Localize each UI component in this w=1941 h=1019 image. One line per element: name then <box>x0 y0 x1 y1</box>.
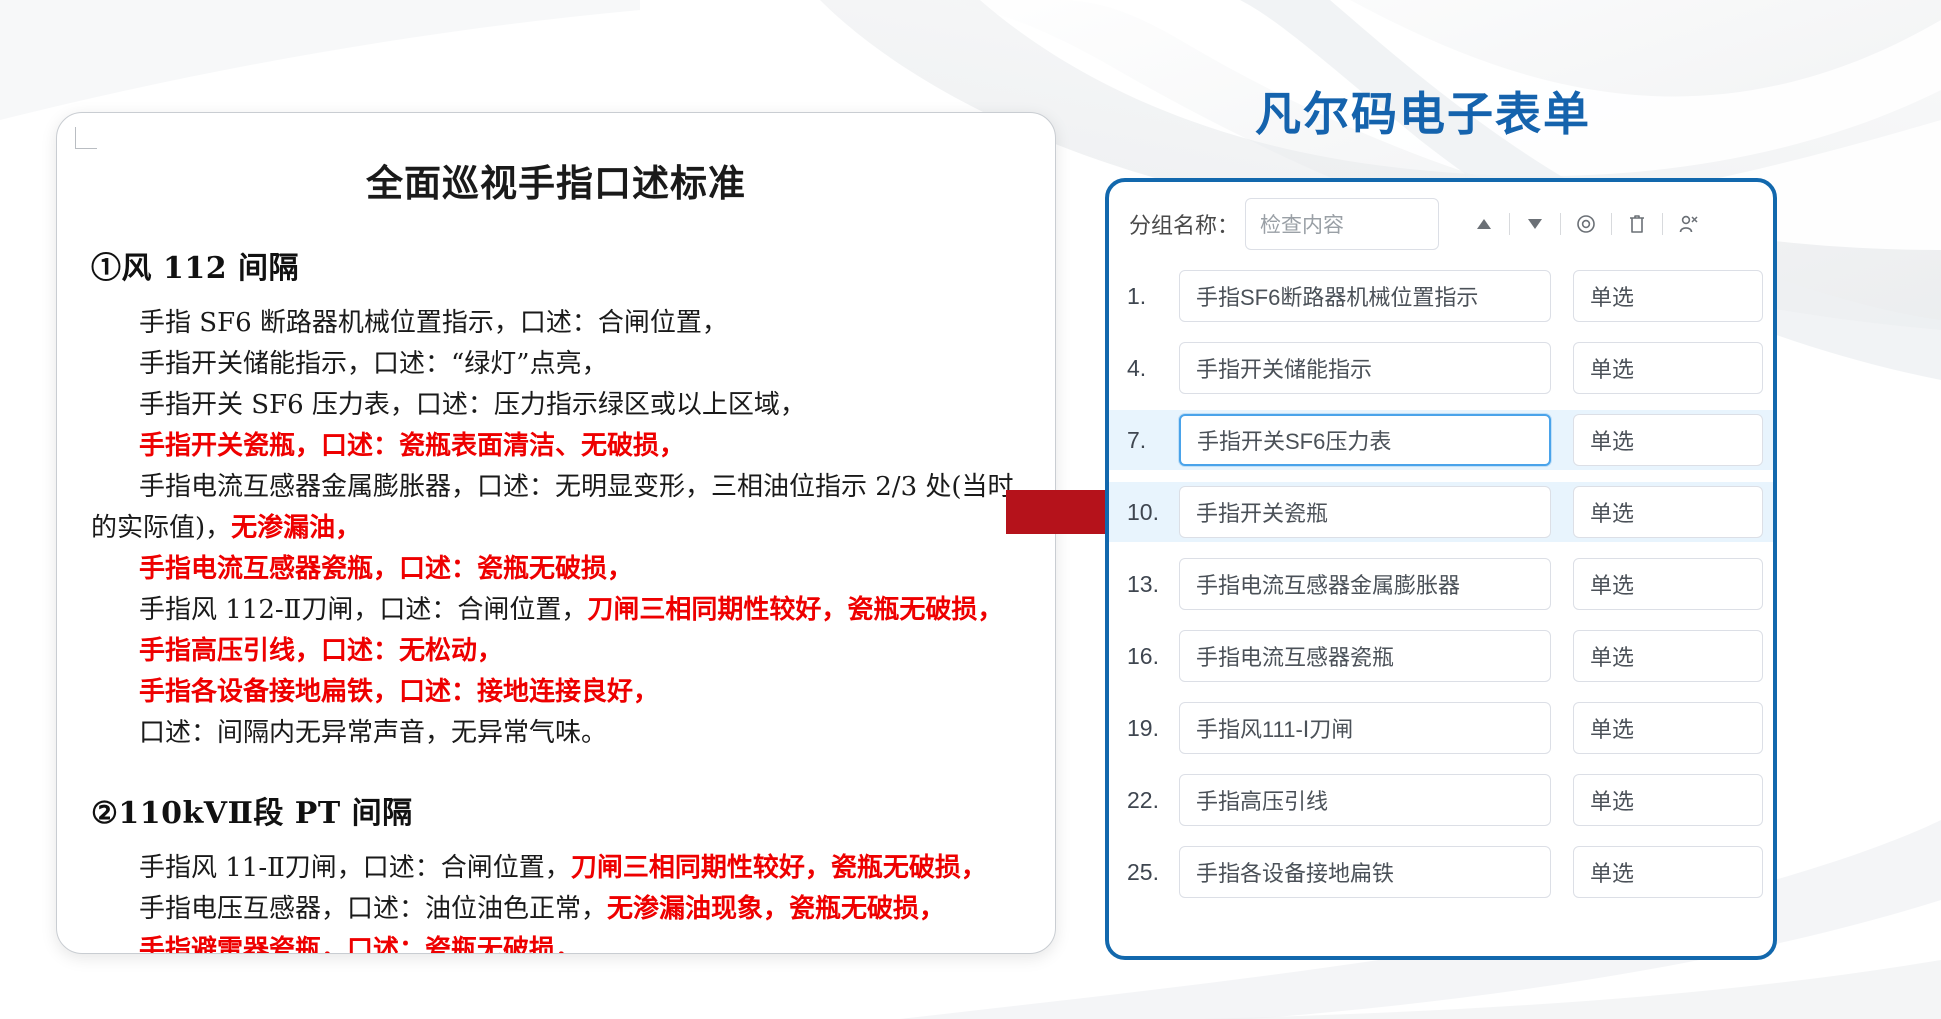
document-line: 手指各设备接地扁铁，口述：接地连接良好， <box>91 672 1021 713</box>
field-name-input[interactable]: 手指各设备接地扁铁 <box>1179 846 1551 898</box>
form-field-row[interactable]: 10.手指开关瓷瓶单选 <box>1109 482 1773 542</box>
assign-user-icon[interactable] <box>1669 205 1707 243</box>
field-type-select[interactable]: 单选 <box>1573 846 1763 898</box>
toolbar-divider <box>1611 213 1612 235</box>
row-index: 22. <box>1127 787 1179 814</box>
field-type-select[interactable]: 单选 <box>1573 558 1763 610</box>
body-text: 手指风 112-Ⅱ刀闸，口述：合闸位置， <box>139 595 587 625</box>
standards-document-card: 全面巡视手指口述标准 ①风 112 间隔 手指 SF6 断路器机械位置指示，口述… <box>56 112 1056 954</box>
field-name-input[interactable]: 手指风111-Ⅰ刀闸 <box>1179 702 1551 754</box>
document-line: 手指开关瓷瓶，口述：瓷瓶表面清洁、无破损， <box>91 426 1021 467</box>
form-field-row[interactable]: 25.手指各设备接地扁铁单选 <box>1109 842 1773 902</box>
document-line: 手指开关储能指示，口述：“绿灯”点亮， <box>91 344 1021 385</box>
form-toolbar: 分组名称： 检查内容 <box>1109 182 1773 266</box>
form-field-row[interactable]: 16.手指电流互感器瓷瓶单选 <box>1109 626 1773 686</box>
field-name-input[interactable]: 手指SF6断路器机械位置指示 <box>1179 270 1551 322</box>
field-type-select[interactable]: 单选 <box>1573 414 1763 466</box>
toolbar-divider <box>1662 213 1663 235</box>
field-name-input[interactable]: 手指高压引线 <box>1179 774 1551 826</box>
highlighted-text: 无渗漏油， <box>231 513 361 543</box>
field-type-select[interactable]: 单选 <box>1573 342 1763 394</box>
section-body: 手指风 11-Ⅱ刀闸，口述：合闸位置，刀闸三相同期性较好，瓷瓶无破损，手指电压互… <box>91 848 1021 954</box>
row-index: 7. <box>1127 427 1179 454</box>
field-name-input[interactable]: 手指电流互感器金属膨胀器 <box>1179 558 1551 610</box>
document-line: 手指电流互感器金属膨胀器，口述：无明显变形，三相油位指示 2/3 处(当时的实际… <box>91 467 1021 549</box>
highlighted-text: 手指开关瓷瓶，口述：瓷瓶表面清洁、无破损， <box>139 431 685 461</box>
row-index: 19. <box>1127 715 1179 742</box>
field-name-input[interactable]: 手指电流互感器瓷瓶 <box>1179 630 1551 682</box>
document-line: 手指风 112-Ⅱ刀闸，口述：合闸位置，刀闸三相同期性较好，瓷瓶无破损， <box>91 590 1021 631</box>
section-heading: ①风 112 间隔 <box>91 243 1021 287</box>
document-section-2: ②110kVⅡ段 PT 间隔 手指风 11-Ⅱ刀闸，口述：合闸位置，刀闸三相同期… <box>91 788 1021 954</box>
field-type-select[interactable]: 单选 <box>1573 486 1763 538</box>
document-line: 手指电流互感器瓷瓶，口述：瓷瓶无破损， <box>91 549 1021 590</box>
field-type-select[interactable]: 单选 <box>1573 270 1763 322</box>
section-spacer <box>91 754 1021 788</box>
toolbar-divider <box>1560 213 1561 235</box>
highlighted-text: 刀闸三相同期性较好，瓷瓶无破损， <box>587 595 1003 625</box>
form-app-title: 凡尔码电子表单 <box>1255 78 1591 144</box>
body-text: 手指电压互感器，口述：油位油色正常， <box>139 894 607 924</box>
document-line: 手指高压引线，口述：无松动， <box>91 631 1021 672</box>
body-text: 手指风 11-Ⅱ刀闸，口述：合闸位置， <box>139 853 571 883</box>
body-text: 手指 SF6 断路器机械位置指示，口述：合闸位置， <box>139 308 728 338</box>
section-body: 手指 SF6 断路器机械位置指示，口述：合闸位置，手指开关储能指示，口述：“绿灯… <box>91 303 1021 754</box>
body-text: 手指电流互感器金属膨胀器，口述：无明显变形，三相油位指示 2/3 处(当时的实际… <box>91 472 1014 543</box>
field-name-input[interactable]: 手指开关储能指示 <box>1179 342 1551 394</box>
row-index: 13. <box>1127 571 1179 598</box>
field-name-input[interactable]: 手指开关瓷瓶 <box>1179 486 1551 538</box>
document-line: 口述：间隔内无异常声音，无异常气味。 <box>91 713 1021 754</box>
move-up-icon[interactable] <box>1465 205 1503 243</box>
page-corner-mark <box>75 127 97 149</box>
document-line: 手指避雷器瓷瓶，口述：瓷瓶无破损， <box>91 930 1021 954</box>
form-field-row[interactable]: 13.手指电流互感器金属膨胀器单选 <box>1109 554 1773 614</box>
form-field-row[interactable]: 7.手指开关SF6压力表单选 <box>1109 410 1773 470</box>
electronic-form-panel: 分组名称： 检查内容 <box>1105 178 1777 960</box>
form-field-row[interactable]: 22.手指高压引线单选 <box>1109 770 1773 830</box>
row-index: 16. <box>1127 643 1179 670</box>
highlighted-text: 手指各设备接地扁铁，口述：接地连接良好， <box>139 677 659 707</box>
row-index: 1. <box>1127 283 1179 310</box>
row-index: 25. <box>1127 859 1179 886</box>
section-heading: ②110kVⅡ段 PT 间隔 <box>91 788 1021 832</box>
move-down-icon[interactable] <box>1516 205 1554 243</box>
row-index: 10. <box>1127 499 1179 526</box>
highlighted-text: 手指电流互感器瓷瓶，口述：瓷瓶无破损， <box>139 554 633 584</box>
form-field-list: 1.手指SF6断路器机械位置指示单选4.手指开关储能指示单选7.手指开关SF6压… <box>1109 266 1773 920</box>
toolbar-icon-group <box>1465 205 1707 243</box>
body-text: 手指开关储能指示，口述：“绿灯”点亮， <box>139 349 608 379</box>
group-name-label: 分组名称： <box>1129 208 1239 240</box>
document-line: 手指电压互感器，口述：油位油色正常，无渗漏油现象，瓷瓶无破损， <box>91 889 1021 930</box>
group-name-input[interactable]: 检查内容 <box>1245 198 1439 250</box>
document-line: 手指风 11-Ⅱ刀闸，口述：合闸位置，刀闸三相同期性较好，瓷瓶无破损， <box>91 848 1021 889</box>
body-text: 口述：间隔内无异常声音，无异常气味。 <box>139 718 607 748</box>
toolbar-divider <box>1509 213 1510 235</box>
field-type-select[interactable]: 单选 <box>1573 774 1763 826</box>
form-field-row[interactable]: 19.手指风111-Ⅰ刀闸单选 <box>1109 698 1773 758</box>
field-name-input[interactable]: 手指开关SF6压力表 <box>1179 414 1551 466</box>
highlighted-text: 手指避雷器瓷瓶，口述：瓷瓶无破损， <box>139 935 581 954</box>
document-section-1: ①风 112 间隔 手指 SF6 断路器机械位置指示，口述：合闸位置，手指开关储… <box>91 243 1021 754</box>
delete-trash-icon[interactable] <box>1618 205 1656 243</box>
page-title: 全面巡视手指口述标准 <box>91 153 1021 207</box>
highlighted-text: 手指高压引线，口述：无松动， <box>139 636 503 666</box>
document-line: 手指 SF6 断路器机械位置指示，口述：合闸位置， <box>91 303 1021 344</box>
highlighted-text: 刀闸三相同期性较好，瓷瓶无破损， <box>571 853 987 883</box>
field-type-select[interactable]: 单选 <box>1573 702 1763 754</box>
body-text: 手指开关 SF6 压力表，口述：压力指示绿区或以上区域， <box>139 390 806 420</box>
highlighted-text: 无渗漏油现象，瓷瓶无破损， <box>607 894 945 924</box>
field-type-select[interactable]: 单选 <box>1573 630 1763 682</box>
form-field-row[interactable]: 4.手指开关储能指示单选 <box>1109 338 1773 398</box>
row-index: 4. <box>1127 355 1179 382</box>
document-line: 手指开关 SF6 压力表，口述：压力指示绿区或以上区域， <box>91 385 1021 426</box>
preview-eye-icon[interactable] <box>1567 205 1605 243</box>
form-field-row[interactable]: 1.手指SF6断路器机械位置指示单选 <box>1109 266 1773 326</box>
